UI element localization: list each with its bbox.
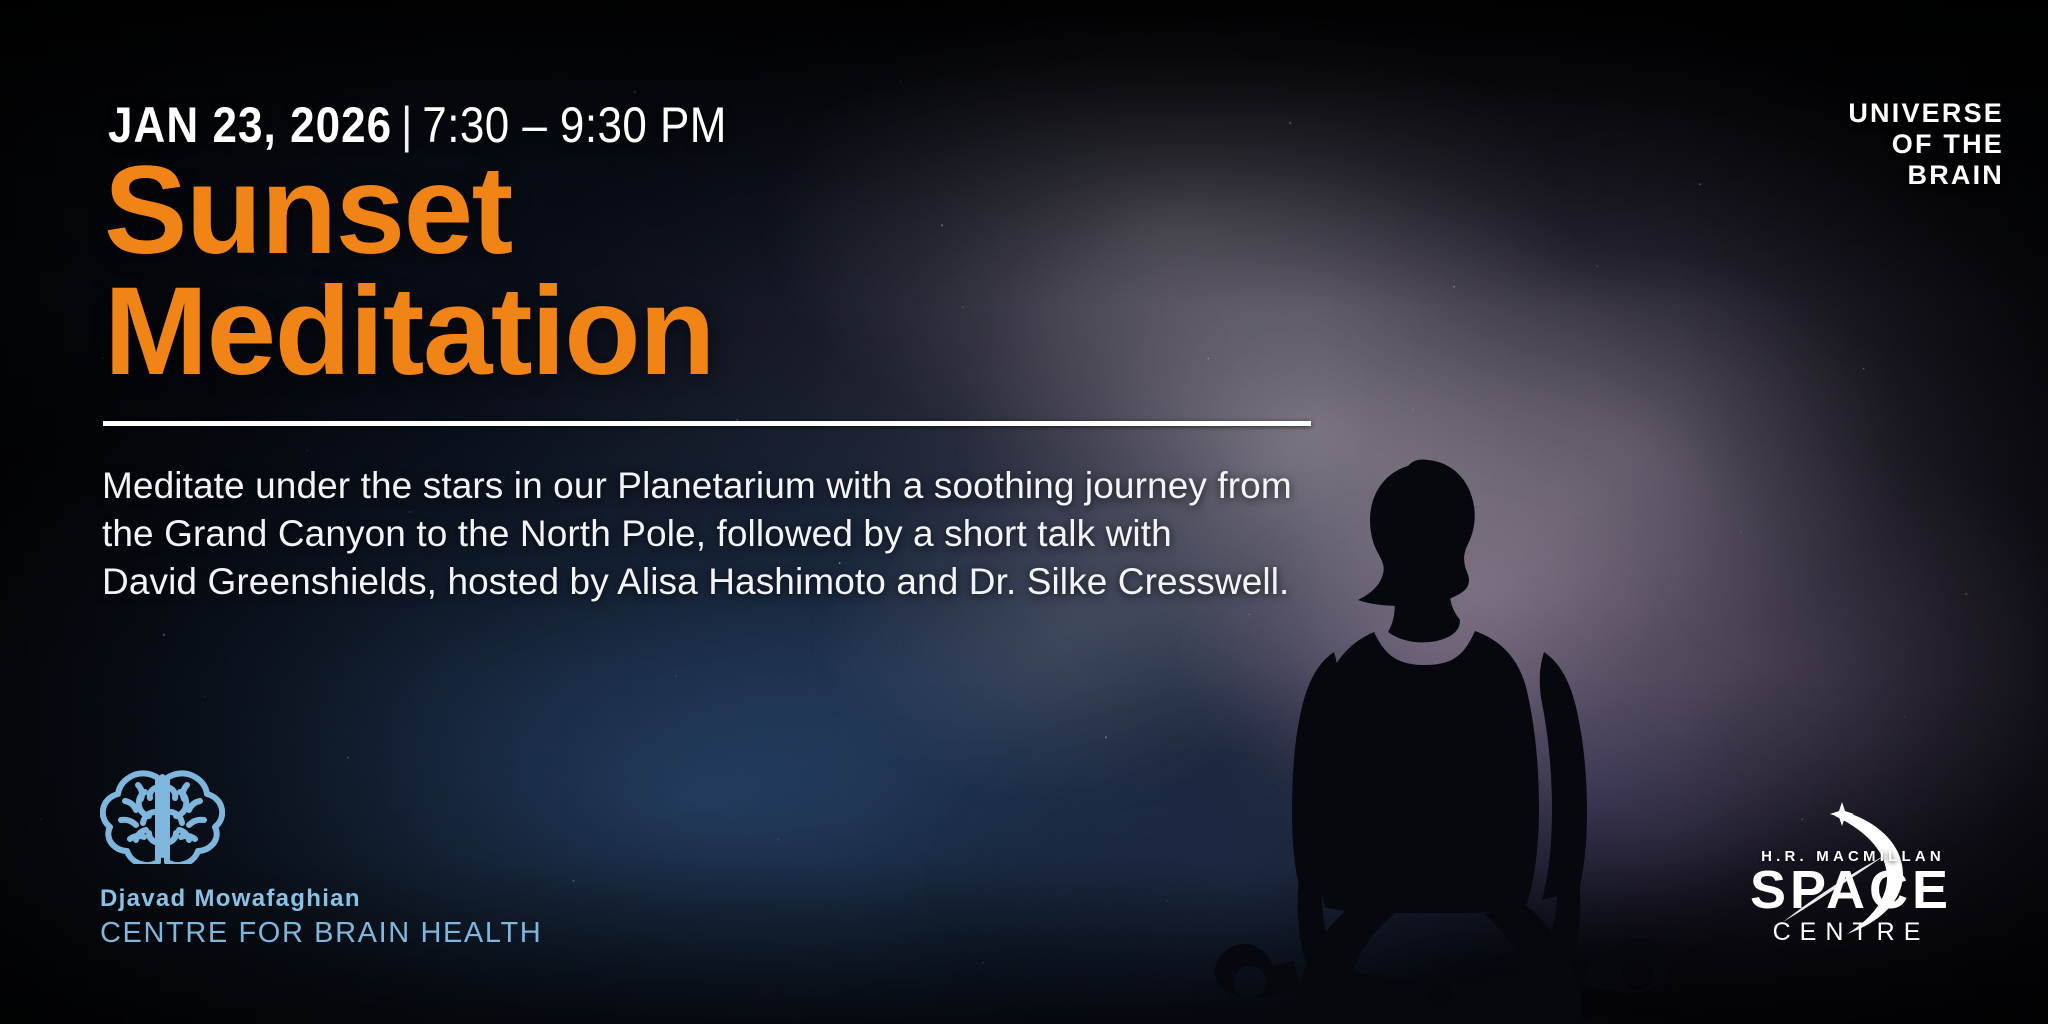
event-title-line-2: Meditation (104, 271, 714, 392)
event-title: Sunset Meditation (104, 150, 714, 393)
dmcbh-logo: Djavad Mowafaghian CENTRE FOR BRAIN HEAL… (100, 768, 542, 950)
universe-of-the-brain-line-3: BRAIN (1848, 160, 2004, 191)
brain-icon (100, 768, 542, 869)
event-description-line-3: David Greenshields, hosted by Alisa Hash… (102, 558, 1382, 606)
event-title-line-1: Sunset (104, 150, 714, 271)
event-description-line-1: Meditate under the stars in our Planetar… (102, 462, 1382, 510)
event-description: Meditate under the stars in our Planetar… (102, 462, 1382, 606)
space-centre-logo: H.R. MACMILLAN SPACE CENTRE (1725, 800, 1975, 950)
horizontal-divider (103, 421, 1311, 426)
universe-of-the-brain-line-1: UNIVERSE (1848, 98, 2004, 129)
universe-of-the-brain-logo: UNIVERSE OF THE BRAIN (1848, 98, 2004, 191)
event-description-line-2: the Grand Canyon to the North Pole, foll… (102, 510, 1382, 558)
space-centre-line-2: SPACE (1733, 863, 1969, 917)
dmcbh-line-1: Djavad Mowafaghian (100, 885, 542, 913)
dmcbh-line-2: CENTRE FOR BRAIN HEALTH (100, 917, 542, 950)
universe-of-the-brain-line-2: OF THE (1848, 129, 2004, 160)
space-centre-line-3: CENTRE (1735, 918, 1967, 947)
event-poster: JAN 23, 2026|7:30 – 9:30 PM Sunset Medit… (0, 0, 2048, 1024)
